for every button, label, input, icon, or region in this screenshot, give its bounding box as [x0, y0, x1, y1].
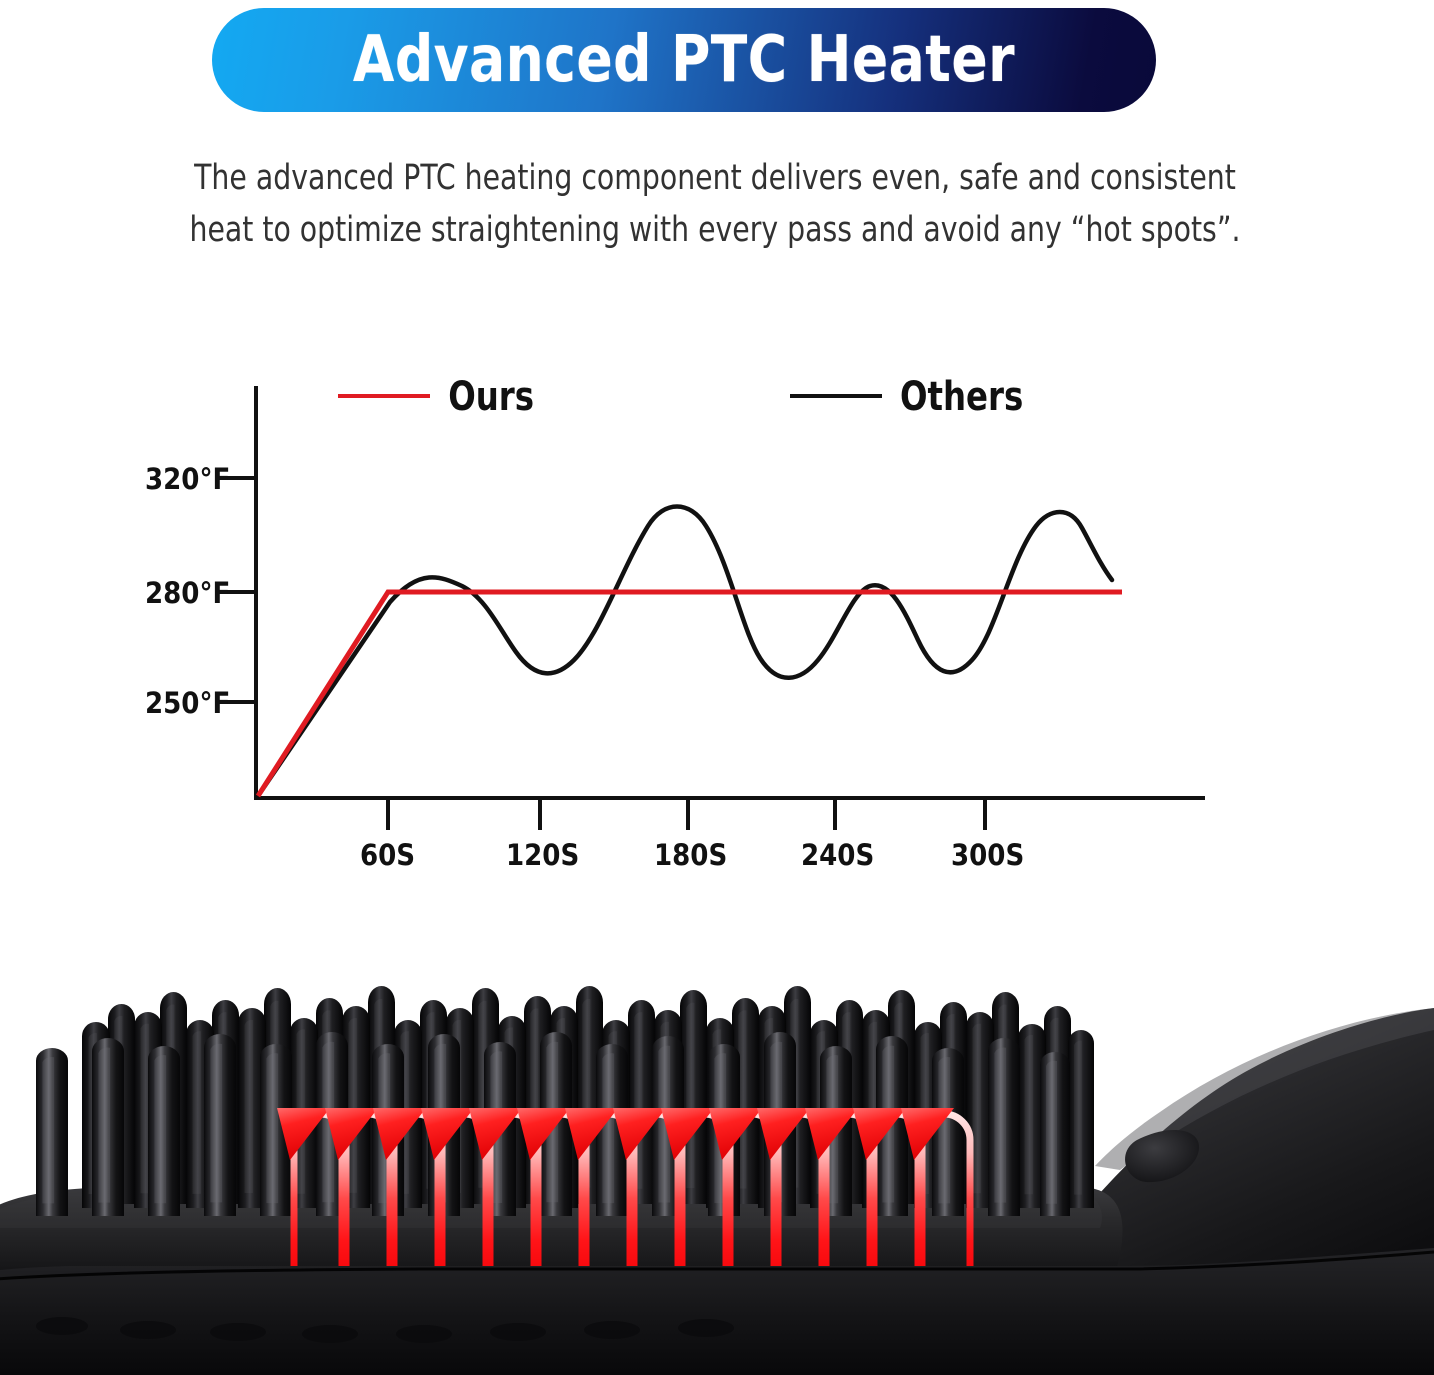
heat-stability-chart: Ours Others 320°F 280°F 250°F 60S 120S 1…	[0, 330, 1434, 890]
product-illustration	[0, 960, 1434, 1375]
subtitle-paragraph: The advanced PTC heating component deliv…	[126, 152, 1305, 256]
x-tick-label-60: 60S	[360, 838, 415, 872]
x-tick-label-300: 300S	[951, 838, 1024, 872]
legend-label-ours: Ours	[448, 373, 534, 419]
subtitle-line-2: heat to optimize straightening with ever…	[126, 204, 1305, 256]
x-tick-label-180: 180S	[654, 838, 727, 872]
x-tick-label-120: 120S	[506, 838, 579, 872]
legend-label-others: Others	[900, 373, 1023, 419]
page-title-banner: Advanced PTC Heater	[212, 8, 1156, 112]
y-tick-label-280: 280°F	[145, 576, 230, 610]
brush-base-plate	[0, 1248, 1434, 1375]
y-tick-label-320: 320°F	[145, 462, 230, 496]
y-tick-label-250: 250°F	[145, 686, 230, 720]
chart-series-others	[258, 507, 1112, 797]
chart-legend: Ours Others	[338, 373, 1023, 419]
page-title: Advanced PTC Heater	[353, 23, 1015, 97]
subtitle-line-1: The advanced PTC heating component deliv…	[126, 152, 1305, 204]
x-tick-label-240: 240S	[801, 838, 874, 872]
